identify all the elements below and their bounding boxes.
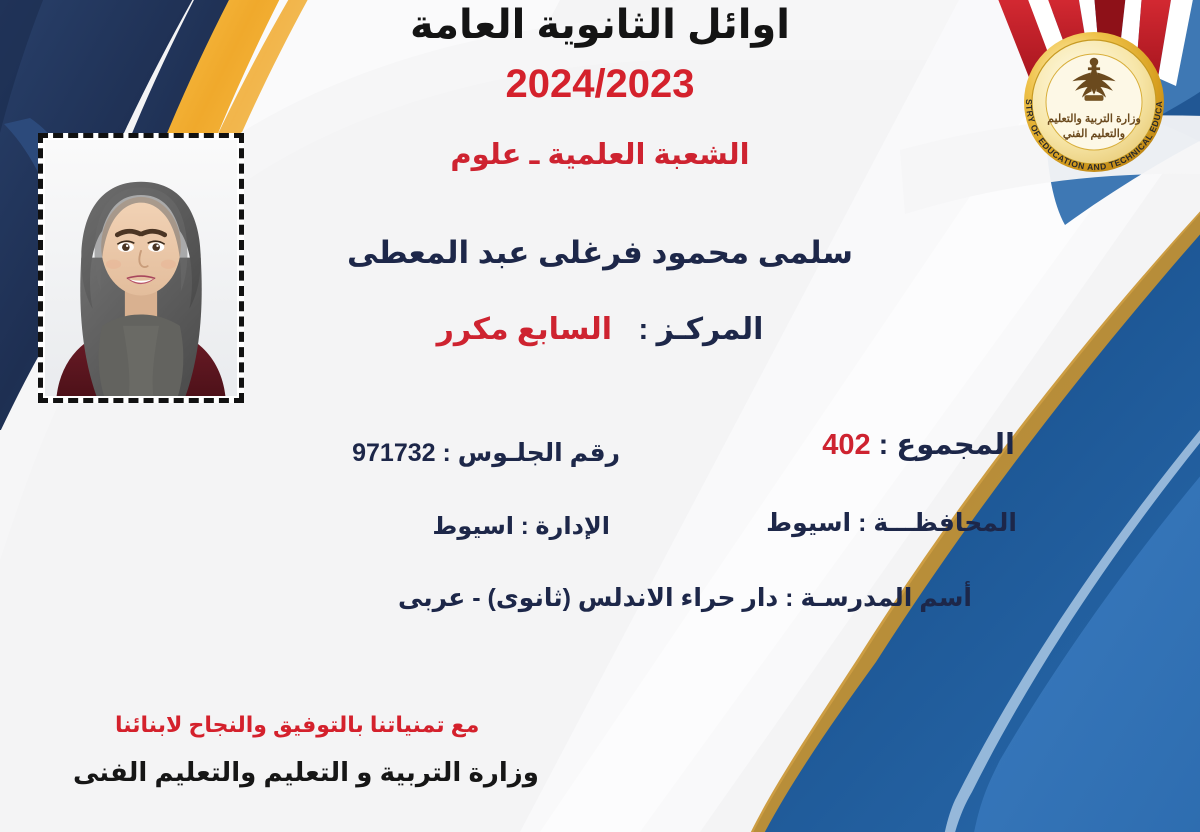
- rank-value: السابع مكرر: [437, 313, 612, 346]
- section-subtitle: الشعبة العلمية ـ علوم: [0, 137, 1200, 172]
- administration-value: اسيوط: [432, 513, 514, 540]
- total-score-row: المجموع : 402: [808, 427, 1015, 462]
- seat-value: 971732: [352, 439, 435, 468]
- seat-number-row: رقم الجلـوس : 971732: [346, 438, 620, 468]
- rank-row: المركـز : السابع مكرر: [0, 312, 1200, 347]
- student-name: سلمى محمود فرغلى عبد المعطى: [0, 235, 1200, 271]
- footer-ministry-name: وزارة التربية و التعليم والتعليم الفنى: [73, 757, 539, 788]
- governorate-label: المحافظـــة :: [858, 509, 1017, 537]
- rank-label: المركـز :: [638, 313, 763, 346]
- governorate-row: المحافظـــة : اسيوط: [766, 508, 1017, 538]
- seat-label: رقم الجلـوس :: [443, 439, 620, 467]
- school-row: أسم المدرسـة : دار حراء الاندلس (ثانوى) …: [398, 583, 972, 613]
- academic-year: 2024/2023: [0, 62, 1200, 107]
- total-label: المجموع :: [879, 429, 1015, 461]
- administration-row: الإدارة : اسيوط: [432, 512, 610, 541]
- certificate-card: MINISTRY OF EDUCATION AND TECHNICAL EDUC…: [0, 0, 1200, 832]
- page-title: اوائل الثانوية العامة: [0, 2, 1200, 48]
- school-label: أسم المدرسـة :: [785, 584, 972, 612]
- total-value: 402: [822, 429, 870, 462]
- administration-label: الإدارة :: [521, 513, 610, 540]
- medal-inner-text-1: وزارة التربية والتعليم: [1047, 113, 1141, 125]
- school-value: دار حراء الاندلس (ثانوى) - عربى: [398, 584, 778, 612]
- governorate-value: اسيوط: [766, 509, 851, 537]
- footer-wish-text: مع تمنياتنا بالتوفيق والنجاح لابنائنا: [115, 712, 479, 738]
